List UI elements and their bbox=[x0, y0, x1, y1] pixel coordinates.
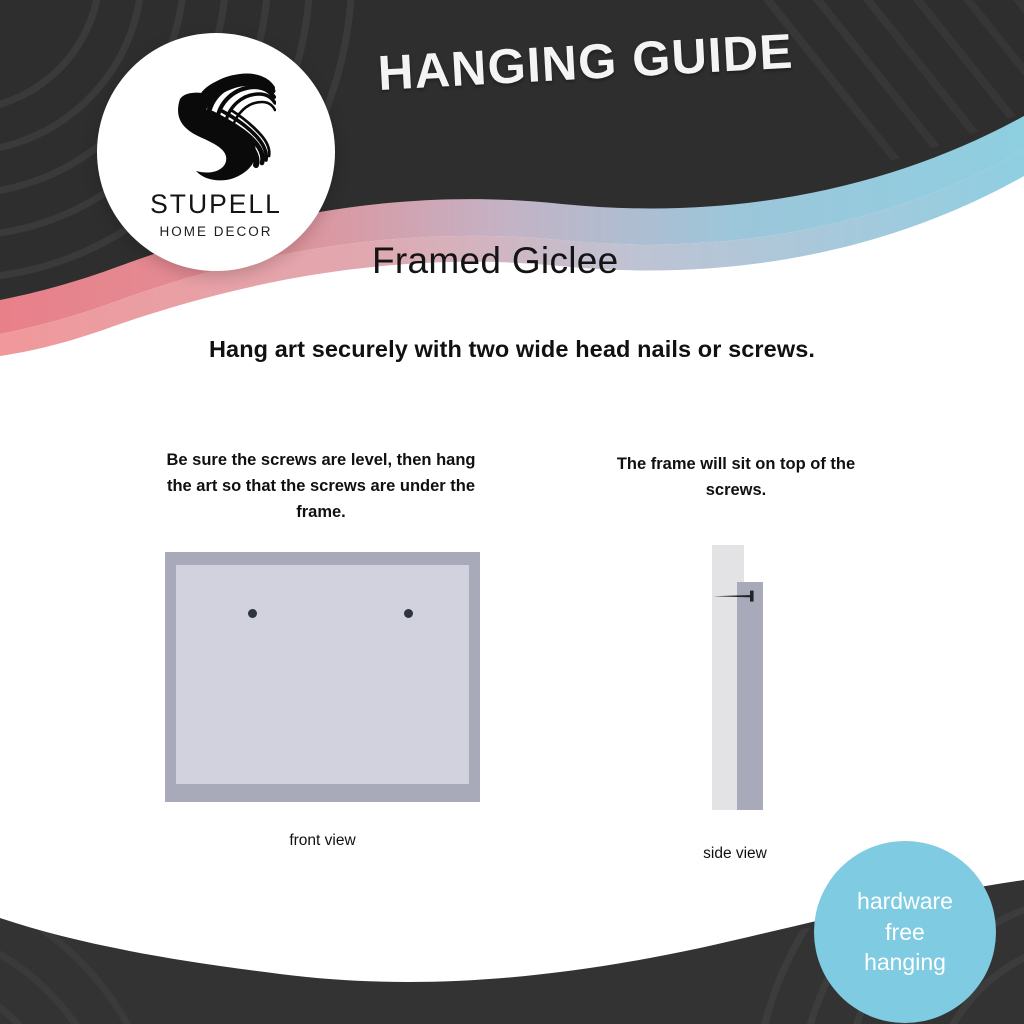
screw-dot-right bbox=[404, 609, 413, 618]
side-view-frame bbox=[737, 582, 763, 810]
hanging-guide-infographic: STUPELL HOME DECOR HANGING GUIDE Framed … bbox=[0, 0, 1024, 1024]
product-name: Framed Giclee bbox=[372, 240, 619, 282]
brand-tagline: HOME DECOR bbox=[159, 224, 272, 239]
front-view-frame bbox=[165, 552, 480, 802]
main-instruction-text: Hang art securely with two wide head nai… bbox=[0, 336, 1024, 363]
stupell-s-swoosh-icon bbox=[156, 61, 276, 183]
badge-line-1: hardware bbox=[857, 886, 953, 917]
front-view-mat bbox=[176, 565, 469, 784]
brand-name: STUPELL bbox=[150, 189, 282, 220]
nail-icon bbox=[712, 589, 760, 603]
diagram-section: Be sure the screws are level, then hang … bbox=[0, 440, 1024, 880]
screw-dot-left bbox=[248, 609, 257, 618]
front-view-caption: Be sure the screws are level, then hang … bbox=[160, 448, 482, 526]
side-view-diagram bbox=[700, 540, 810, 820]
side-view-label: side view bbox=[640, 845, 830, 863]
side-view-caption: The frame will sit on top of the screws. bbox=[605, 452, 867, 504]
badge-line-3: hanging bbox=[864, 947, 946, 978]
front-view-label: front view bbox=[165, 832, 480, 850]
badge-line-2: free bbox=[885, 917, 925, 948]
brand-logo-badge: STUPELL HOME DECOR bbox=[97, 33, 335, 271]
hardware-free-badge: hardware free hanging bbox=[814, 841, 996, 1023]
